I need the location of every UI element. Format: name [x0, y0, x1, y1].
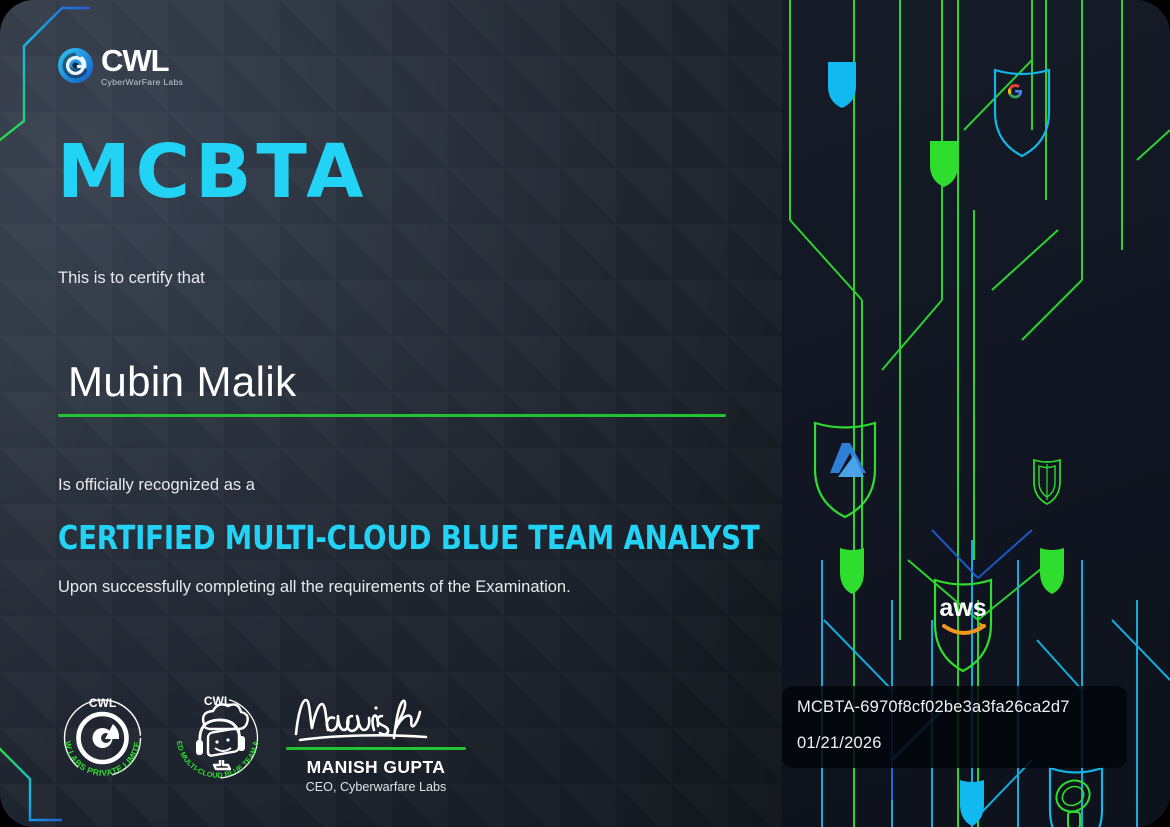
completion-note-text: Upon successfully completing all the req… [58, 578, 571, 597]
seal1-top-text: CWL [89, 696, 116, 710]
recipient-underline [58, 414, 726, 417]
certificate-id-box: MCBTA-6970f8cf02be3a3fa26ca2d7 01/21/202… [782, 686, 1127, 768]
certify-prefix-text: This is to certify that [58, 269, 205, 288]
mcbta-seal: CWL CERTIFIED MULTI-CLOUD BLUE TEAM ANAL… [170, 688, 265, 788]
handwritten-signature [286, 690, 466, 746]
shield-google-icon [995, 70, 1049, 156]
certification-title: CERTIFIED MULTI-CLOUD BLUE TEAM ANALYST [58, 518, 760, 557]
svg-text:aws: aws [939, 594, 986, 622]
shield-azure-icon [815, 423, 875, 517]
shield-hex-outline-icon [1034, 460, 1060, 504]
shield-magnifier-icon [1050, 768, 1102, 827]
cwl-spiral-icon [79, 714, 127, 762]
cwl-logo: CWL CyberWarFare Labs [57, 45, 183, 87]
cw-labs-seal: CWL CW LABS PRIVATE LIMITED [55, 688, 150, 788]
recognized-prefix-text: Is officially recognized as a [58, 476, 255, 495]
shield-aws-icon: aws [935, 580, 991, 671]
recipient-name: Mubin Malik [68, 358, 296, 406]
shield-cyan-bottom-icon [960, 780, 984, 826]
signatory-name: MANISH GUPTA [286, 757, 466, 778]
cwl-spiral-icon [57, 47, 94, 84]
certificate-id-text: MCBTA-6970f8cf02be3a3fa26ca2d7 [797, 699, 1112, 716]
signature-block: MANISH GUPTA CEO, Cyberwarfare Labs [286, 690, 466, 794]
shield-cyan-plain-icon [828, 62, 856, 108]
shield-green-plain-icon [930, 141, 958, 187]
certificate-issue-date: 01/21/2026 [797, 735, 1112, 752]
signatory-role: CEO, Cyberwarfare Labs [286, 780, 466, 794]
cwl-logo-text: CWL [101, 45, 183, 76]
certificate-right-panel: aws [782, 0, 1170, 827]
cwl-logo-subtitle: CyberWarFare Labs [101, 78, 183, 87]
signature-underline [286, 747, 466, 750]
shield-green-left-icon [840, 548, 864, 594]
certificate-canvas: aws [0, 0, 1170, 827]
cloud-monitor-headset-icon [196, 704, 248, 769]
shield-green-right-icon [1040, 548, 1064, 594]
certificate-acronym: MCBTA [57, 135, 368, 209]
